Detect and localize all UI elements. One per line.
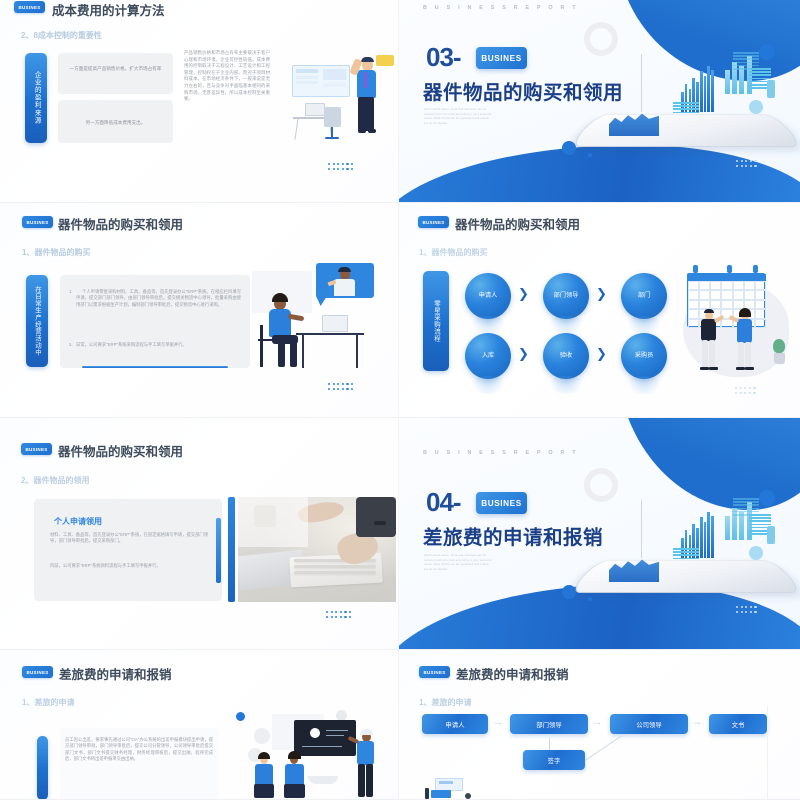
section-chip-badge: BUSINES [476, 47, 527, 69]
slide-sub-title: 1、器件物品的购买 [22, 247, 90, 258]
paragraph-text: 员工因公出差，要求事先通过公司"OA"办公系统的出差申报模块提出申请，提交部门领… [65, 737, 213, 763]
slide-thumbnail-5[interactable]: BUSINES 器件物品的购买和领用 2、器件物品的领用 个人申请领用 材料、工… [0, 418, 399, 650]
chevron-right-icon: ❯ [596, 347, 607, 360]
flow-node-signature[interactable]: 签字 [523, 750, 585, 770]
flow-node-reflection [625, 316, 663, 334]
brand-badge: BUSINES [21, 443, 52, 455]
slide-sub-title: 1、差旅的申请 [419, 697, 471, 708]
section-latin-filler: which works better, store and calculate … [424, 108, 492, 126]
slide-thumbnail-8[interactable]: BUSINES 差旅费的申请和报销 1、差旅的申请 申请人 ⟶ 部门领导 ⟶ 公… [399, 650, 800, 800]
slide-header-title: 器件物品的购买和领用 [58, 214, 183, 233]
flow-node-warehouse[interactable]: 入库 [465, 333, 511, 379]
decorative-dots [326, 611, 351, 618]
card-accent-bar [216, 518, 221, 583]
flow-connector-arrow: ⟶ [593, 722, 600, 727]
flow-node-clerk[interactable]: 文书 [709, 714, 767, 734]
list-item-2-marker: 2. [69, 342, 73, 348]
brand-badge: BUSINES [22, 666, 53, 678]
brand-badge: BUSINES [14, 1, 45, 13]
flow-node-applicant[interactable]: 申请人 [465, 273, 511, 319]
flow-node-reflection [547, 316, 585, 334]
illustration-tablet-3d-charts [585, 474, 787, 604]
flow-node-dept-leader[interactable]: 部门领导 [510, 714, 588, 734]
info-box-1 [58, 53, 173, 94]
sidebar-label-bar: 在日常生产经营活动中 [26, 275, 48, 367]
text-card [34, 499, 222, 601]
sidebar-label-bar: 企业的盈利来源 [25, 53, 47, 143]
illustration-tablet-3d-charts [585, 28, 787, 158]
slide-sub-title: 2、8成本控制的重要性 [21, 30, 102, 41]
list-item-2: 日常，公司要求"ERP"系统采购流程与手工填写单据并行。 [76, 342, 241, 348]
slide-header-title: 成本费用的计算方法 [52, 0, 165, 19]
flow-node-reflection [469, 316, 507, 334]
flow-connector-vertical [549, 738, 550, 750]
list-item-1: 个人申请零星采购材料、工具、备品等，首先登录办公"ERP"系统，在相应栏目填写申… [76, 289, 241, 308]
brand-badge: BUSINES [419, 666, 450, 678]
flow-connector-arrow: ⟶ [494, 722, 501, 727]
flow-node-reflection [469, 376, 507, 394]
section-eyebrow-label: B U S I N E S S R E P O R T [423, 5, 579, 11]
section-number: 04- [426, 487, 461, 518]
info-box-2-text: 另一方面降低成本费用支出。 [63, 119, 168, 126]
info-box-1-text: 一方面是提高产品销售价格，扩大市场占有率 [63, 65, 168, 72]
flow-node-reflection [625, 376, 663, 394]
slide-header-title: 差旅费的申请和报销 [59, 664, 172, 683]
illustration-training-classroom-people [228, 710, 396, 800]
flow-node-applicant[interactable]: 申请人 [422, 714, 488, 734]
section-title: 差旅费的申请和报销 [423, 521, 603, 550]
chevron-right-icon: ❯ [518, 287, 529, 300]
card-title: 个人申请领用 [54, 516, 102, 527]
slide-thumbnail-1[interactable]: BUSINES 成本费用的计算方法 2、8成本控制的重要性 企业的盈利来源 一方… [0, 0, 399, 203]
decorative-dots [736, 606, 757, 613]
slide-sub-title: 1、差旅的申请 [22, 697, 74, 708]
decorative-dots [736, 160, 757, 167]
slide-thumbnail-3[interactable]: BUSINES 器件物品的购买和领用 1、器件物品的购买 在日常生产经营活动中 … [0, 203, 399, 418]
paragraph-text: 产品销售价格和市场占有率主要取决于客户心理和市场环境，企业可控性较低。成本费用的… [184, 50, 270, 103]
slide-thumbnail-grid: BUSINES 成本费用的计算方法 2、8成本控制的重要性 企业的盈利来源 一方… [0, 0, 800, 800]
panel-divider [767, 706, 768, 800]
flow-node-purchaser[interactable]: 采购员 [621, 333, 667, 379]
illustration-hands-typing-keyboard-photo [238, 497, 396, 602]
decorative-dots [735, 387, 756, 394]
card-body-2: 目前，公司要求"ERP"系统领料流程与手工填写申报并行。 [50, 563, 208, 569]
slide-thumbnail-4[interactable]: BUSINES 器件物品的购买和领用 1、器件物品的购买 零星采购流程 申请人 … [399, 203, 800, 418]
illustration-desk-woman-video-call [252, 263, 396, 375]
chart-lines-1 [733, 498, 759, 516]
section-chip-badge: BUSINES [476, 492, 527, 514]
card-body-1: 材料、工具、备品等，首先登录办公"ERP"系统，在固定据格填写申请，提交部门领导… [50, 532, 208, 545]
brand-badge: BUSINES [418, 216, 449, 228]
decorative-dot-mid [562, 585, 576, 599]
flow-node-dept-leader[interactable]: 部门领导 [543, 273, 589, 319]
slide-header-title: 器件物品的购买和领用 [58, 441, 183, 460]
section-latin-filler: which works better, store and calculate … [424, 554, 492, 572]
photo-accent-bar [228, 497, 235, 602]
list-item-1-marker: 1. [69, 289, 73, 295]
brand-badge: BUSINES [22, 216, 53, 228]
illustration-office-presentation-man [292, 45, 396, 150]
chevron-right-icon: ❯ [596, 287, 607, 300]
flow-node-department[interactable]: 部门 [621, 273, 667, 319]
slide-sub-title: 1、器件物品的购买 [419, 247, 487, 258]
flow-connector-diagonal [585, 735, 622, 760]
slide-header-title: 差旅费的申请和报销 [456, 664, 569, 683]
section-number: 03- [426, 42, 461, 73]
slide-header-title: 器件物品的购买和领用 [455, 214, 580, 233]
slide-sub-title: 2、器件物品的领用 [21, 475, 89, 486]
sidebar-label-bar: 零星采购流程 [423, 271, 449, 371]
slide-thumbnail-2[interactable]: B U S I N E S S R E P O R T 03- BUSINES … [399, 0, 800, 203]
flow-node-company-leader[interactable]: 公司领导 [610, 714, 688, 734]
flow-connector-arrow: ⟶ [693, 722, 700, 727]
slide-thumbnail-6[interactable]: B U S I N E S S R E P O R T 04- BUSINES … [399, 418, 800, 650]
decorative-dots [328, 163, 353, 170]
illustration-desk-items [425, 778, 477, 800]
section-eyebrow-label: B U S I N E S S R E P O R T [423, 450, 579, 456]
flow-node-acceptance[interactable]: 验收 [543, 333, 589, 379]
chart-lines-3 [673, 102, 699, 113]
chevron-right-icon: ❯ [518, 347, 529, 360]
slide-thumbnail-7[interactable]: BUSINES 差旅费的申请和报销 1、差旅的申请 员工因公出差，要求事先通过公… [0, 650, 399, 800]
illustration-calendar-two-people [681, 269, 795, 389]
sidebar-accent-bar [37, 736, 48, 800]
decorative-dots [328, 383, 353, 390]
chart-lines-3 [673, 548, 699, 559]
flow-node-reflection [547, 376, 585, 394]
chart-lines-1 [733, 52, 759, 70]
panel-underline [82, 366, 228, 368]
